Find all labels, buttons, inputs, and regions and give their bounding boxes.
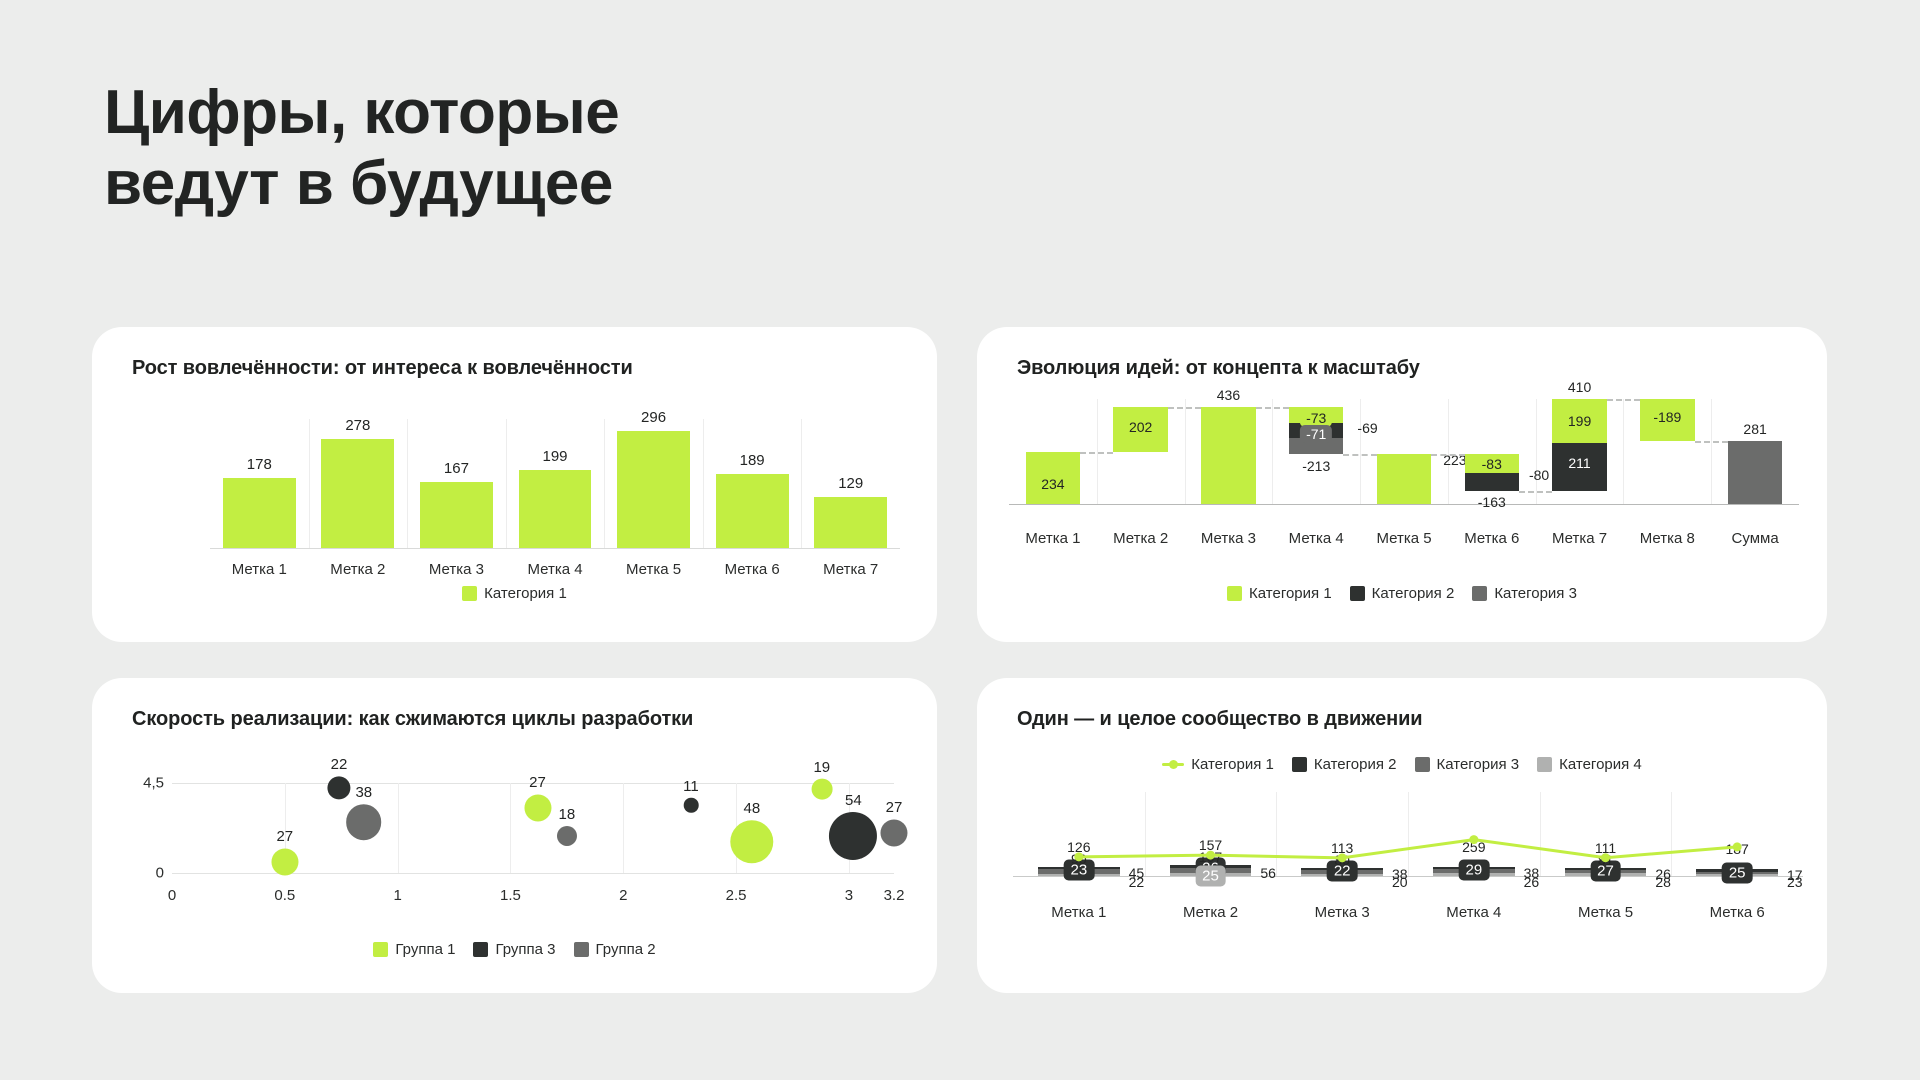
legend-label: Группа 3 [495,941,555,958]
waterfall-label-4c: -71 [1300,425,1332,443]
legend-speed-item-2[interactable]: Группа 3 [473,941,555,958]
connector [1080,452,1113,454]
bubble-10[interactable] [880,819,907,846]
legend-label: Категория 2 [1314,756,1397,773]
legend-community-item-3[interactable]: Категория 3 [1415,756,1520,773]
bubble-value-2: 22 [331,756,348,773]
legend-label: Категория 2 [1372,585,1455,602]
x-tick-3: Метка 3 [1201,530,1256,547]
grid-line [801,419,802,548]
legend-swatch [1537,757,1552,772]
bubble-value-4: 27 [529,774,546,791]
chart-engagement-plot: 178Метка 1278Метка 2167Метка 3199Метка 4… [210,419,900,549]
legend-label: Категория 3 [1437,756,1520,773]
x-gridline-3 [510,783,511,873]
bubble-1[interactable] [271,848,298,875]
card-speed: Скорость реализации: как сжимаются циклы… [92,678,937,993]
grid-line [1536,399,1537,504]
legend-swatch [1472,586,1487,601]
legend-swatch [1415,757,1430,772]
x-tick-5: 2 [619,887,627,904]
connector [1607,399,1640,401]
legend-label: Категория 4 [1559,756,1642,773]
legend-swatch [462,586,477,601]
chart-ideas-plot: 234202436-73-71-69-213223-83-80-16341019… [1009,399,1799,554]
waterfall-label-4-total: -213 [1302,458,1330,474]
bar-value-5: 296 [641,409,666,426]
x-tick-8: Метка 8 [1640,530,1695,547]
legend-label: Группа 1 [395,941,455,958]
card-ideas: Эволюция идей: от концепта к масштабу 23… [977,327,1827,642]
waterfall-label-3: 436 [1217,387,1240,403]
chart-community-plot: 23224512690Метка 1262556157107Метка 2222… [1013,808,1803,918]
bar-value-4: 199 [542,448,567,465]
waterfall-label-4b: -69 [1357,420,1377,436]
bubble-5[interactable] [557,826,577,846]
connector [1343,454,1376,456]
card-title-speed: Скорость реализации: как сжимаются циклы… [132,708,693,731]
card-title-ideas: Эволюция идей: от концепта к масштабу [1017,357,1420,380]
x-tick-5: Метка 5 [1376,530,1431,547]
card-engagement: Рост вовлечённости: от интереса к вовлеч… [92,327,937,642]
connector [1256,407,1289,409]
grid-line [1272,399,1273,504]
x-gridline-2 [398,783,399,873]
legend-speed-item-1[interactable]: Группа 1 [373,941,455,958]
y-tick-max: 4,5 [126,775,164,792]
x-tick-8: 3.2 [884,887,905,904]
legend-swatch [1292,757,1307,772]
bar-value-7: 129 [838,475,863,492]
legend-swatch [1227,586,1242,601]
x-tick-3: 1 [393,887,401,904]
legend-ideas: Категория 1Категория 2Категория 3 [977,585,1827,602]
bubble-value-9: 54 [845,792,862,809]
legend-line-marker [1162,763,1184,766]
x-tick-7: Метка 7 [823,561,878,578]
waterfall-label-7a: 199 [1568,413,1591,429]
bar-Метка 4[interactable] [519,470,592,548]
legend-community-item-4[interactable]: Категория 4 [1537,756,1642,773]
bar-Метка 3[interactable] [420,482,493,548]
grid-line [309,419,310,548]
zero-axis-line [1009,504,1799,505]
bar-Метка 2[interactable] [321,439,394,549]
connector [1431,454,1464,456]
x-tick-1: Метка 1 [232,561,287,578]
x-tick-4: Метка 4 [1289,530,1344,547]
waterfall-label-8: -189 [1653,409,1681,425]
grid-line [604,419,605,548]
bubble-3[interactable] [346,804,382,840]
line-series-cat1 [1013,774,1803,882]
x-tick-9: Сумма [1732,530,1779,547]
bar-value-3: 167 [444,460,469,477]
bar-value-6: 189 [740,452,765,469]
x-tick-1: 0 [168,887,176,904]
bubble-4[interactable] [524,794,551,821]
legend-ideas-item-2[interactable]: Категория 2 [1350,585,1455,602]
x-tick-4: Метка 4 [1446,904,1501,921]
waterfall-bar-sum[interactable] [1728,441,1782,504]
bar-Метка 1[interactable] [223,478,296,548]
connector [1695,441,1728,443]
line-point-1[interactable] [1074,852,1083,861]
waterfall-bar-6b[interactable] [1465,473,1519,491]
legend-swatch [473,942,488,957]
grid-line [506,419,507,548]
x-tick-6: 2.5 [726,887,747,904]
legend-label: Группа 2 [596,941,656,958]
grid-line [1711,399,1712,504]
grid-line [1185,399,1186,504]
connector [1168,407,1201,409]
legend-ideas-item-1[interactable]: Категория 1 [1227,585,1332,602]
bubble-value-10: 27 [886,799,903,816]
bar-Метка 5[interactable] [617,431,690,548]
bar-Метка 7[interactable] [814,497,887,548]
x-tick-5: Метка 5 [1578,904,1633,921]
legend-engagement-item-1[interactable]: Категория 1 [462,585,567,602]
waterfall-label-sum: 281 [1743,421,1766,437]
waterfall-label-6-total: -163 [1478,494,1506,510]
x-tick-2: 0.5 [274,887,295,904]
x-tick-7: 3 [845,887,853,904]
dashboard-page: Цифры, которые ведут в будущее Рост вовл… [0,0,1920,1080]
x-tick-6: Метка 6 [1464,530,1519,547]
grid-line [1623,399,1624,504]
bubble-value-6: 11 [683,778,699,795]
waterfall-label-7-total: 410 [1568,379,1591,395]
x-tick-4: Метка 4 [527,561,582,578]
grid-line [1360,399,1361,504]
bubble-7[interactable] [730,820,773,863]
x-tick-2: Метка 2 [1113,530,1168,547]
x-tick-3: Метка 3 [1315,904,1370,921]
legend-ideas-item-3[interactable]: Категория 3 [1472,585,1577,602]
waterfall-label-6a: -83 [1476,455,1508,473]
grid-line [703,419,704,548]
bubble-2[interactable] [327,776,350,799]
waterfall-label-6b: -80 [1529,467,1549,483]
bubble-9[interactable] [829,812,877,860]
bubble-value-1: 27 [276,828,293,845]
legend-label: Категория 3 [1494,585,1577,602]
legend-label: Категория 1 [484,585,567,602]
legend-community: Категория 1Категория 2Категория 3Категор… [977,756,1827,773]
x-tick-7: Метка 7 [1552,530,1607,547]
legend-swatch [1350,586,1365,601]
legend-label: Категория 1 [1249,585,1332,602]
card-title-engagement: Рост вовлечённости: от интереса к вовлеч… [132,357,633,380]
waterfall-label-7b: 211 [1568,455,1590,471]
waterfall-label-2: 202 [1129,419,1152,435]
legend-community-item-1[interactable]: Категория 1 [1162,756,1274,773]
bar-value-2: 278 [345,417,370,434]
connector [1519,491,1552,493]
legend-swatch [373,942,388,957]
x-tick-1: Метка 1 [1051,904,1106,921]
x-tick-6: Метка 6 [725,561,780,578]
legend-swatch [574,942,589,957]
legend-speed-item-3[interactable]: Группа 2 [574,941,656,958]
legend-engagement: Категория 1 [92,585,937,602]
x-tick-6: Метка 6 [1710,904,1765,921]
bar-Метка 6[interactable] [716,474,789,548]
waterfall-label-1: 234 [1041,476,1064,492]
x-axis-line [210,548,900,549]
line-point-5[interactable] [1601,853,1610,862]
chart-speed-plot: 4,502722382718114819542700.511.522.533.2 [172,783,894,873]
line-point-3[interactable] [1338,853,1347,862]
waterfall-bar-3[interactable] [1201,407,1255,504]
card-title-community: Один — и целое сообщество в движении [1017,708,1422,731]
x-tick-1: Метка 1 [1025,530,1080,547]
bubble-value-5: 18 [559,806,576,823]
bar-value-1: 178 [247,456,272,473]
x-tick-5: Метка 5 [626,561,681,578]
legend-community-item-2[interactable]: Категория 2 [1292,756,1397,773]
grid-line [407,419,408,548]
x-tick-2: Метка 2 [1183,904,1238,921]
x-gridline-4 [623,783,624,873]
legend-label: Категория 1 [1191,756,1274,773]
bubble-6[interactable] [684,798,699,813]
x-tick-4: 1.5 [500,887,521,904]
x-tick-3: Метка 3 [429,561,484,578]
line-point-6[interactable] [1733,842,1742,851]
waterfall-label-4a: -73 [1300,409,1332,427]
line-point-4[interactable] [1469,835,1478,844]
line-point-2[interactable] [1206,851,1215,860]
bubble-value-8: 19 [813,759,830,776]
bubble-value-7: 48 [744,800,761,817]
legend-speed: Группа 1Группа 3Группа 2 [92,941,937,958]
y-tick-min: 0 [126,865,164,882]
bubble-value-3: 38 [355,784,372,801]
waterfall-bar-5[interactable] [1377,454,1431,504]
page-title: Цифры, которые ведут в будущее [104,78,619,219]
x-tick-2: Метка 2 [330,561,385,578]
card-community: Один — и целое сообщество в движении Кат… [977,678,1827,993]
bubble-8[interactable] [811,779,832,800]
